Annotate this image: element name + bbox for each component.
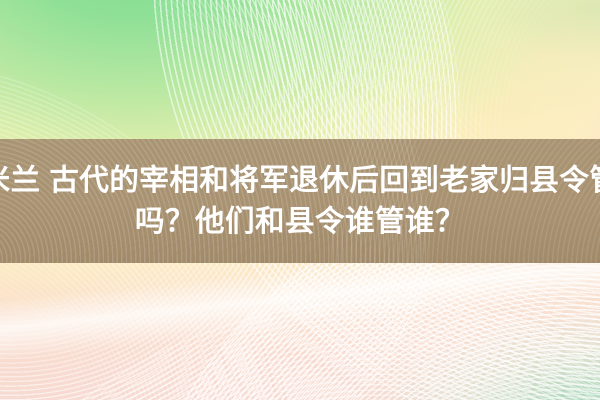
decorative-title-banner: 米兰 古代的宰相和将军退休后回到老家归县令管 吗？他们和县令谁管谁？ — [0, 0, 600, 400]
title-line-2: 吗？他们和县令谁管谁？ — [135, 204, 465, 240]
title-text-block: 米兰 古代的宰相和将军退休后回到老家归县令管 吗？他们和县令谁管谁？ — [0, 139, 600, 263]
title-band: 米兰 古代的宰相和将军退休后回到老家归县令管 吗？他们和县令谁管谁？ — [0, 139, 600, 263]
title-line-1: 米兰 古代的宰相和将军退休后回到老家归县令管 — [0, 163, 600, 199]
